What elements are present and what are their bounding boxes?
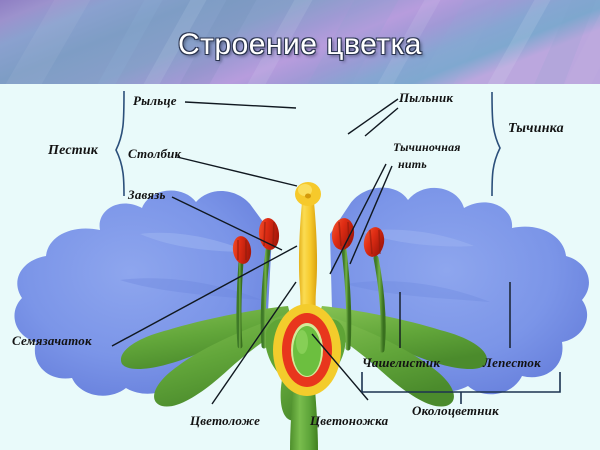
label-stamen: Тычинка [508, 122, 564, 137]
stamen-brace [492, 92, 500, 196]
label-ovule: Семязачаток [12, 334, 92, 348]
label-petal: Лепесток [483, 356, 541, 370]
label-pistil: Пестик [48, 144, 98, 159]
pistil-brace [116, 91, 124, 196]
label-ovary: Завязь [128, 188, 166, 202]
label-filament-line1: Тычиночная [393, 141, 461, 154]
diagram-canvas: Пестик Рыльце Столбик Завязь Пыльник Тыч… [0, 84, 600, 450]
label-stigma: Рыльце [133, 94, 177, 108]
label-receptacle: Цветоложе [190, 414, 260, 428]
brace-overlay [0, 0, 600, 450]
label-perianth: Околоцветник [412, 404, 499, 418]
slide: Строение цветка [0, 0, 600, 450]
label-pedicel: Цветоножка [310, 414, 388, 428]
label-filament-line2: нить [398, 158, 427, 171]
label-sepal: Чашелистик [362, 356, 440, 370]
label-anther: Пыльник [399, 91, 453, 105]
label-style: Столбик [128, 147, 181, 161]
